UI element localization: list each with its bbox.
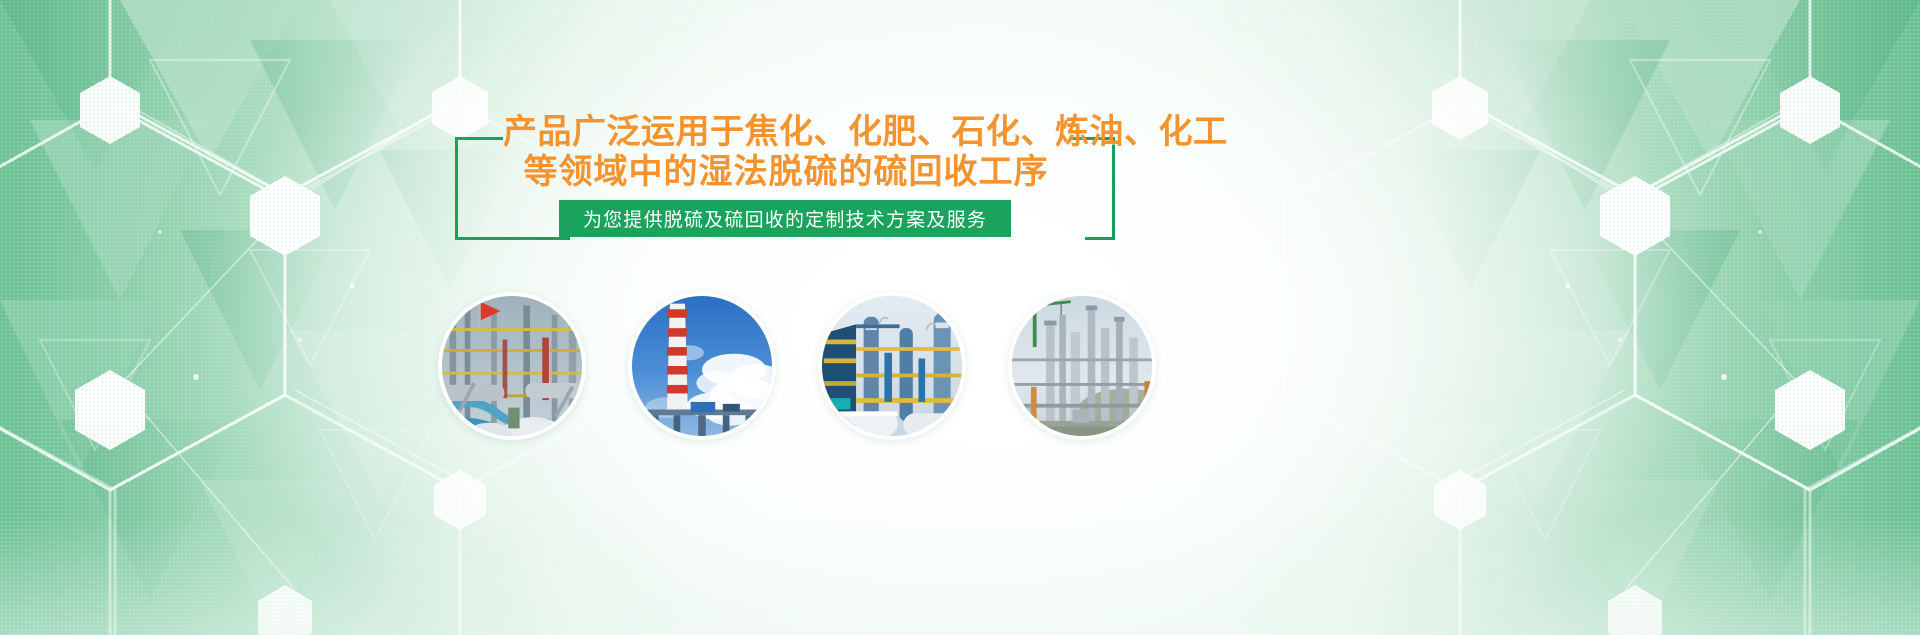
headline-line-1: 产品广泛运用于焦化、化肥、石化、炼油、化工 xyxy=(503,112,1069,152)
subheadline-text: 为您提供脱硫及硫回收的定制技术方案及服务 xyxy=(583,205,987,232)
refinery-piping-plant-image xyxy=(442,296,582,436)
refinery-towers-skyline-image xyxy=(1012,296,1152,436)
headline-text: 产品广泛运用于焦化、化肥、石化、炼油、化工 等领域中的湿法脱硫的硫回收工序 xyxy=(503,112,1069,192)
photo-circle-storage-tanks[interactable] xyxy=(818,292,966,440)
promo-banner: 产品广泛运用于焦化、化肥、石化、炼油、化工 等领域中的湿法脱硫的硫回收工序 为您… xyxy=(0,0,1920,635)
bracket-right-vertical xyxy=(1112,137,1115,240)
bracket-bottom-left-stub xyxy=(455,237,570,240)
chemical-storage-tanks-image xyxy=(822,296,962,436)
bracket-top-left-stub xyxy=(455,137,503,140)
photo-circle-refinery-towers[interactable] xyxy=(1008,292,1156,440)
photo-circle-row xyxy=(0,292,1920,442)
subheadline-bar: 为您提供脱硫及硫回收的定制技术方案及服务 xyxy=(559,200,1011,237)
bracket-left-vertical xyxy=(455,137,458,240)
headline-line-2: 等领域中的湿法脱硫的硫回收工序 xyxy=(503,152,1069,192)
photo-circle-refinery-piping[interactable] xyxy=(438,292,586,440)
bracket-bottom-right-stub xyxy=(1085,237,1115,240)
bottom-fade xyxy=(0,515,1920,635)
chimney-stack-blue-sky-image xyxy=(632,296,772,436)
photo-circle-chimney-stack[interactable] xyxy=(628,292,776,440)
